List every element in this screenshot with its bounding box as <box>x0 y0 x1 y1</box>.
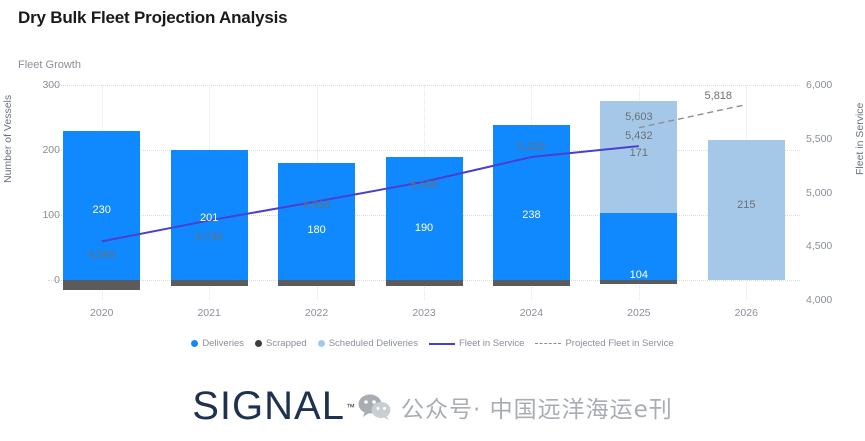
signal-logo-text: SIGNAL <box>192 384 345 429</box>
legend-dot-icon <box>191 340 198 347</box>
bar-deliveries[interactable] <box>386 157 463 281</box>
legend-dot-icon <box>255 340 262 347</box>
y-axis-left-tick: 0 <box>20 274 60 286</box>
y-axis-right-tick: 5,500 <box>806 133 852 145</box>
bar-deliveries[interactable] <box>600 213 677 281</box>
bar-scrapped[interactable] <box>600 280 677 284</box>
legend-item[interactable]: Fleet in Service <box>429 338 524 349</box>
y-axis-left-label: Number of Vessels <box>2 95 14 183</box>
bar-deliveries[interactable] <box>63 131 140 281</box>
legend-dot-icon <box>318 340 325 347</box>
legend-label: Fleet in Service <box>459 338 524 349</box>
bar-scrapped[interactable] <box>278 280 355 286</box>
bar-deliveries[interactable] <box>493 125 570 280</box>
trademark-icon: ™ <box>346 402 356 412</box>
legend-label: Scheduled Deliveries <box>329 338 418 349</box>
legend-label: Scrapped <box>266 338 307 349</box>
signal-logo: SIGNAL™ <box>192 384 356 429</box>
bar-scrapped[interactable] <box>493 280 570 286</box>
y-axis-right-tick: 5,000 <box>806 187 852 199</box>
label-projected-fleet: 5,818 <box>705 90 733 102</box>
legend-label: Projected Fleet in Service <box>565 338 673 349</box>
x-axis-tick: 2025 <box>594 307 684 319</box>
bar-scrapped[interactable] <box>63 280 140 289</box>
bar-scrapped[interactable] <box>386 280 463 286</box>
x-axis-tick: 2021 <box>164 307 254 319</box>
x-axis-tick: 2020 <box>57 307 147 319</box>
bar-scheduled-deliveries[interactable] <box>600 101 677 212</box>
wechat-account-text: 公众号· 中国远洋海运e刊 <box>401 390 673 424</box>
bar-scheduled-deliveries[interactable] <box>708 140 785 280</box>
x-axis-tick: 2022 <box>272 307 362 319</box>
bar-deliveries[interactable] <box>171 150 248 281</box>
page-title: Dry Bulk Fleet Projection Analysis <box>18 8 287 28</box>
legend-item[interactable]: Projected Fleet in Service <box>535 338 673 349</box>
y-axis-left-tick: 200 <box>20 144 60 156</box>
y-axis-left-tick: 300 <box>20 79 60 91</box>
legend-item[interactable]: Scrapped <box>255 338 307 349</box>
footer-branding: SIGNAL™ 公众号· 中国远洋海运e刊 <box>0 372 865 441</box>
chart-canvas: Number of Vessels Fleet in Service 20202… <box>0 75 865 310</box>
wechat-icon <box>358 393 392 421</box>
legend-item[interactable]: Deliveries <box>191 338 244 349</box>
y-axis-left-tick: 100 <box>20 209 60 221</box>
legend-label: Deliveries <box>202 338 244 349</box>
chart-legend: DeliveriesScrappedScheduled DeliveriesFl… <box>0 338 865 349</box>
x-axis-tick: 2024 <box>486 307 576 319</box>
legend-item[interactable]: Scheduled Deliveries <box>318 338 418 349</box>
legend-dash-icon <box>535 343 561 344</box>
x-axis-tick: 2026 <box>701 307 791 319</box>
y-axis-right-tick: 4,500 <box>806 240 852 252</box>
y-axis-right-tick: 4,000 <box>806 294 852 306</box>
x-axis-tick: 2023 <box>379 307 469 319</box>
bar-deliveries[interactable] <box>278 163 355 280</box>
plot-area: 2020202120222023202420252026230201180190… <box>48 85 800 300</box>
y-axis-right-tick: 6,000 <box>806 79 852 91</box>
y-axis-right-label: Fleet in Service <box>854 103 865 175</box>
chart-subtitle: Fleet Growth <box>18 59 81 71</box>
bar-scrapped[interactable] <box>171 280 248 286</box>
legend-line-icon <box>429 343 455 345</box>
